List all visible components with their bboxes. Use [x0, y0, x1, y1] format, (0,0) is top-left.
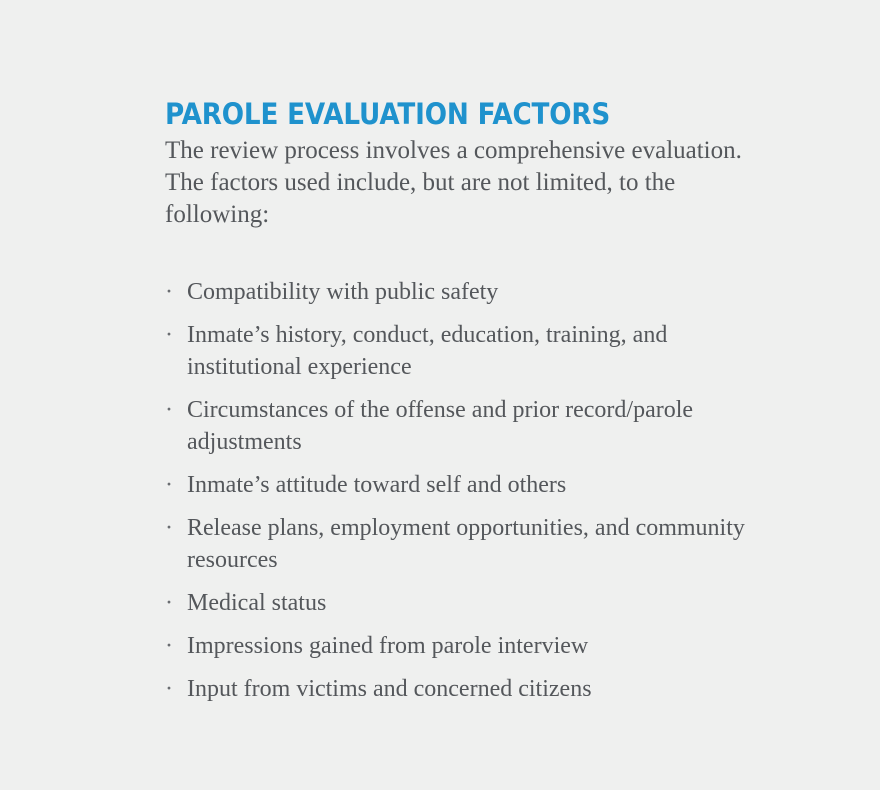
- bullet-icon: ·: [165, 673, 173, 705]
- list-item-label: Release plans, employment opportunities,…: [187, 512, 757, 576]
- bullet-icon: ·: [165, 276, 173, 308]
- bullet-icon: ·: [165, 469, 173, 501]
- list-item: · Medical status: [165, 587, 757, 619]
- parole-evaluation-card: PAROLE EVALUATION FACTORS The review pro…: [0, 0, 880, 790]
- bullet-icon: ·: [165, 319, 173, 351]
- list-item-label: Impressions gained from parole interview: [187, 630, 757, 662]
- list-item: · Impressions gained from parole intervi…: [165, 630, 757, 662]
- list-item: · Input from victims and concerned citiz…: [165, 673, 757, 705]
- list-item: · Compatibility with public safety: [165, 276, 757, 308]
- card-content: PAROLE EVALUATION FACTORS The review pro…: [165, 96, 765, 705]
- list-item-label: Input from victims and concerned citizen…: [187, 673, 757, 705]
- intro-paragraph: The review process involves a comprehens…: [165, 135, 745, 231]
- list-item: · Release plans, employment opportunitie…: [165, 512, 757, 576]
- bullet-icon: ·: [165, 512, 173, 544]
- bullet-icon: ·: [165, 587, 173, 619]
- list-item: · Inmate’s attitude toward self and othe…: [165, 469, 757, 501]
- list-item: · Circumstances of the offense and prior…: [165, 394, 757, 458]
- page-title: PAROLE EVALUATION FACTORS: [165, 96, 708, 132]
- factors-list: · Compatibility with public safety · Inm…: [165, 276, 765, 705]
- list-item-label: Compatibility with public safety: [187, 276, 757, 308]
- list-item-label: Inmate’s history, conduct, education, tr…: [187, 319, 757, 383]
- list-item-label: Circumstances of the offense and prior r…: [187, 394, 757, 458]
- list-item-label: Inmate’s attitude toward self and others: [187, 469, 757, 501]
- list-item: · Inmate’s history, conduct, education, …: [165, 319, 757, 383]
- bullet-icon: ·: [165, 394, 173, 426]
- bullet-icon: ·: [165, 630, 173, 662]
- list-item-label: Medical status: [187, 587, 757, 619]
